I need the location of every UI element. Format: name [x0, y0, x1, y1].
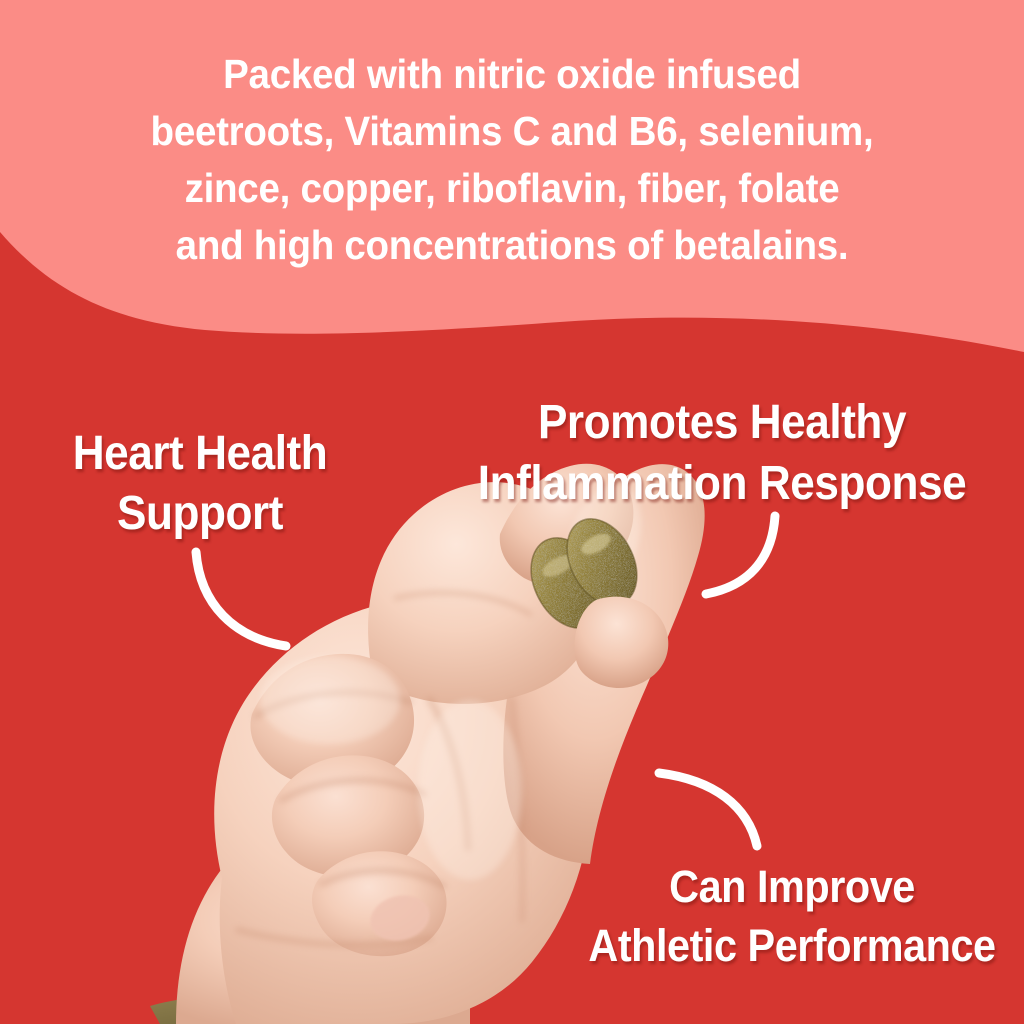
benefit-heart-line-2: Support [16, 484, 384, 544]
benefit-athletic-line-2: Athletic Performance [579, 916, 1006, 975]
top-description-paragraph: Packed with nitric oxide infused beetroo… [31, 46, 994, 274]
benefit-inflammation-line-1: Promotes Healthy [444, 392, 1000, 453]
benefit-promotes-healthy-inflammation-response: Promotes Healthy Inflammation Response [444, 392, 1000, 514]
infographic-canvas: Packed with nitric oxide infused beetroo… [0, 0, 1024, 1024]
benefit-heart-health-support: Heart Health Support [16, 424, 384, 544]
benefit-athletic-line-1: Can Improve [579, 857, 1006, 916]
top-copy-line-2: beetroots, Vitamins C and B6, selenium, [31, 103, 994, 160]
top-copy-line-4: and high concentrations of betalains. [31, 217, 994, 274]
benefit-can-improve-athletic-performance: Can Improve Athletic Performance [579, 857, 1006, 975]
top-copy-line-3: zince, copper, riboflavin, fiber, folate [31, 160, 994, 217]
benefit-heart-line-1: Heart Health [16, 424, 384, 484]
top-copy-line-1: Packed with nitric oxide infused [31, 46, 994, 103]
benefit-inflammation-line-2: Inflammation Response [444, 453, 1000, 514]
